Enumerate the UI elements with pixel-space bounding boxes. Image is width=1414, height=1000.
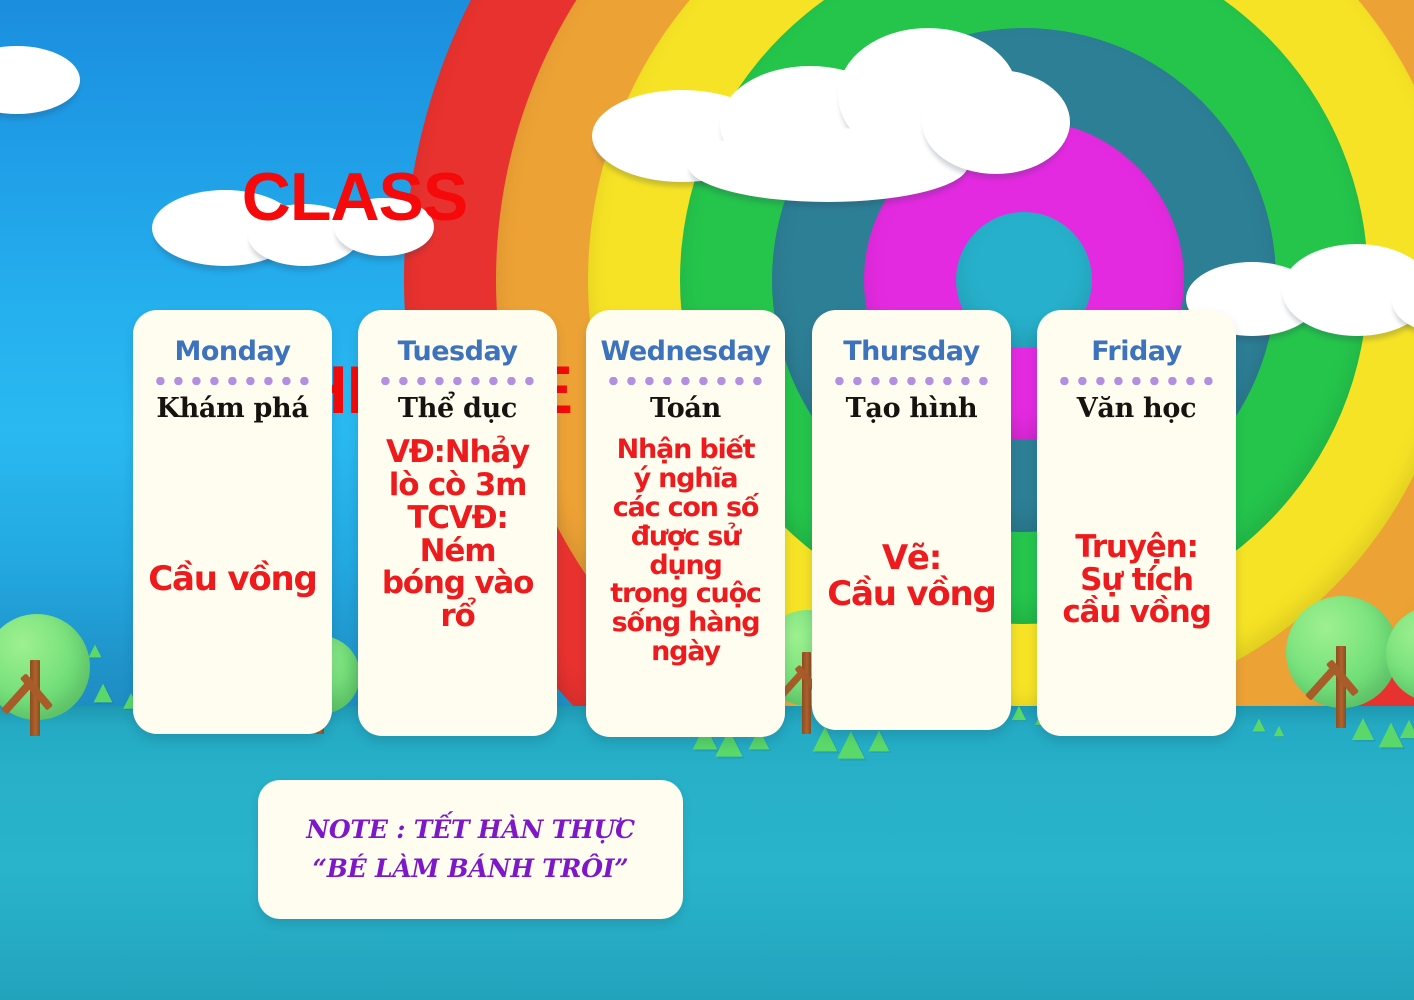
subject-label-friday: Văn học <box>1077 393 1196 424</box>
card-divider-dots <box>377 377 538 385</box>
subject-label-monday: Khám phá <box>156 393 308 424</box>
schedule-card-tuesday[interactable]: Tuesday Thể dục VĐ:Nhảy lò cò 3m TCVĐ: N… <box>358 310 557 736</box>
activity-text-tuesday: VĐ:Nhảy lò cò 3m TCVĐ: Ném bóng vào rổ <box>382 436 533 633</box>
card-divider-dots <box>1056 377 1217 385</box>
activity-slot-monday: Cầu vồng <box>148 424 316 734</box>
schedule-card-monday[interactable]: Monday Khám phá Cầu vồng <box>133 310 332 734</box>
day-label-wednesday: Wednesday <box>601 336 771 367</box>
day-label-monday: Monday <box>175 336 291 367</box>
note-line-2: “BÉ LÀM BÁNH TRÔI” <box>313 850 629 889</box>
activity-slot-friday: Truyện: Sự tích cầu vồng <box>1062 424 1210 736</box>
activity-slot-thursday: Vẽ: Cầu vồng <box>827 424 995 730</box>
subject-label-thursday: Tạo hình <box>846 393 978 424</box>
schedule-card-wednesday[interactable]: Wednesday Toán Nhận biết ý nghĩa các con… <box>586 310 785 737</box>
activity-text-wednesday: Nhận biết ý nghĩa các con số được sử dụn… <box>610 436 761 667</box>
card-divider-dots <box>605 377 766 385</box>
schedule-card-thursday[interactable]: Thursday Tạo hình Vẽ: Cầu vồng <box>812 310 1011 730</box>
activity-slot-wednesday: Nhận biết ý nghĩa các con số được sử dụn… <box>610 424 761 737</box>
day-label-friday: Friday <box>1091 336 1182 367</box>
activity-text-thursday: Vẽ: Cầu vồng <box>827 541 995 612</box>
schedule-card-friday[interactable]: Friday Văn học Truyện: Sự tích cầu vồng <box>1037 310 1236 736</box>
subject-label-wednesday: Toán <box>650 393 721 424</box>
activity-text-friday: Truyện: Sự tích cầu vồng <box>1062 531 1210 630</box>
activity-text-monday: Cầu vồng <box>148 561 316 598</box>
schedule-card-row: Monday Khám phá Cầu vồng Tuesday Thể dục… <box>0 0 1414 1000</box>
card-divider-dots <box>831 377 992 385</box>
subject-label-tuesday: Thể dục <box>398 393 517 424</box>
activity-slot-tuesday: VĐ:Nhảy lò cò 3m TCVĐ: Ném bóng vào rổ <box>382 424 533 736</box>
note-line-1: NOTE : TẾT HÀN THỰC <box>306 811 635 850</box>
day-label-tuesday: Tuesday <box>398 336 518 367</box>
day-label-thursday: Thursday <box>843 336 980 367</box>
note-box[interactable]: NOTE : TẾT HÀN THỰC “BÉ LÀM BÁNH TRÔI” <box>258 780 683 919</box>
card-divider-dots <box>152 377 313 385</box>
